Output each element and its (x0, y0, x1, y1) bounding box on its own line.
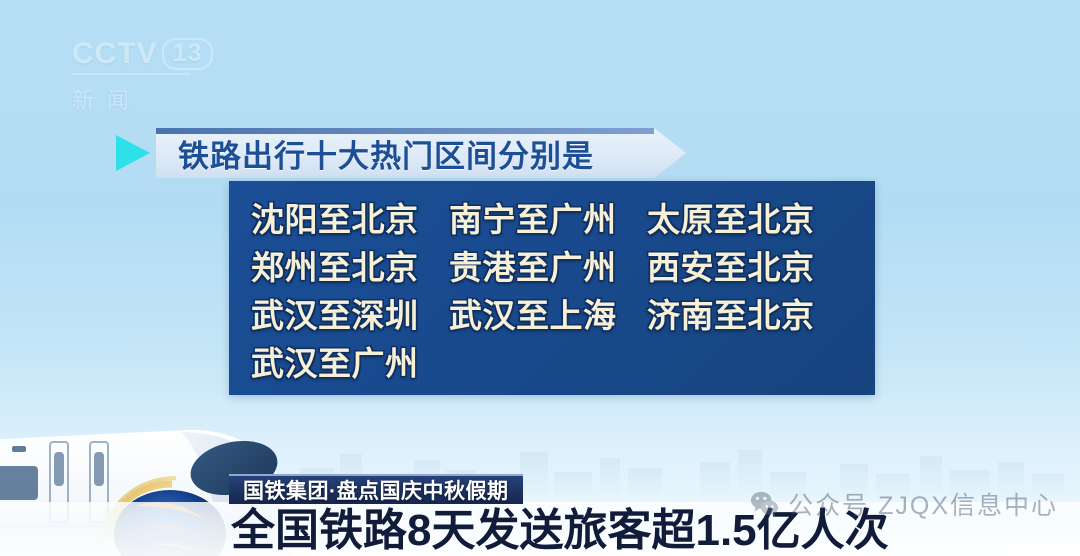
routes-row: 武汉至深圳 武汉至上海 济南至北京 (229, 289, 875, 337)
cctv-logo-text: CCTV (72, 39, 158, 69)
watermark-text: 公众号 ZJQX信息中心 (788, 486, 1058, 522)
header-banner: 铁路出行十大热门区间分别是 (112, 128, 686, 178)
route-item: 沈阳至北京 (251, 193, 449, 241)
route-item: 武汉至上海 (449, 289, 647, 337)
route-item: 武汉至深圳 (251, 289, 449, 337)
routes-panel: 沈阳至北京 南宁至广州 太原至北京 郑州至北京 贵港至广州 西安至北京 武汉至深… (229, 181, 875, 395)
route-item: 太原至北京 (647, 193, 845, 241)
cctv-channel-logo: CCTV 13 新闻 (72, 38, 232, 116)
triangle-right-icon (112, 128, 156, 178)
routes-row: 沈阳至北京 南宁至广州 太原至北京 (229, 193, 875, 241)
channel-watermark: 公众号 ZJQX信息中心 (749, 486, 1058, 522)
route-item: 武汉至广州 (251, 337, 449, 385)
routes-row: 郑州至北京 贵港至广州 西安至北京 (229, 241, 875, 289)
cctv-logo-subtitle: 新闻 (72, 83, 232, 115)
cctv-logo-number: 13 (162, 38, 214, 70)
subtitle-text: 国铁集团·盘点国庆中秋假期 (243, 475, 509, 505)
route-item: 济南至北京 (647, 289, 845, 337)
broadcast-screen: CCTV 13 新闻 铁路出行十大热门区间分别是 沈阳至北京 南宁至广州 太原至… (0, 0, 1080, 556)
routes-row: 武汉至广州 (229, 337, 875, 385)
route-item: 南宁至广州 (449, 193, 647, 241)
route-item: 郑州至北京 (251, 241, 449, 289)
route-item: 西安至北京 (647, 241, 845, 289)
page-title: 铁路出行十大热门区间分别是 (178, 131, 594, 176)
cctv-logo-divider (72, 73, 190, 75)
subtitle-band: 国铁集团·盘点国庆中秋假期 (229, 474, 523, 504)
route-item: 贵港至广州 (449, 241, 647, 289)
cctv-logo-main: CCTV 13 (72, 38, 232, 70)
header-banner-body: 铁路出行十大热门区间分别是 (156, 128, 686, 178)
wechat-icon (749, 489, 779, 519)
